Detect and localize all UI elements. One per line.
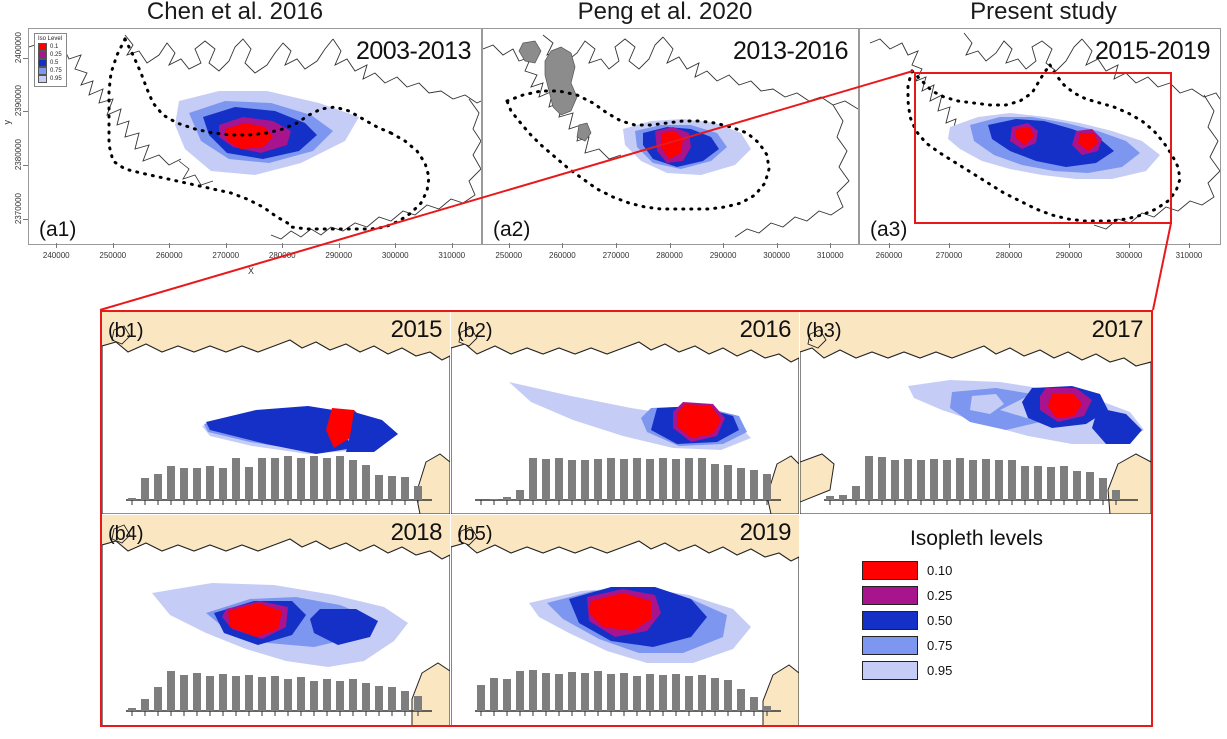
panel-label-b4: (b4)	[108, 523, 144, 546]
panel-label-b1: (b1)	[108, 320, 144, 343]
x-axis-a3: 260000270000280000290000300000310000	[859, 243, 1219, 269]
year-label-b3: 2017	[1092, 316, 1143, 344]
x-axis-tick-mark	[282, 243, 283, 248]
x-axis-tick-mark	[56, 243, 57, 248]
x-axis-tick-mark	[169, 243, 170, 248]
x-axis-tick-mark	[670, 243, 671, 248]
map-panel-b2: 2016 (b2)	[451, 312, 799, 514]
x-axis-tick-label: 310000	[438, 251, 465, 260]
x-axis-tick-mark	[889, 243, 890, 248]
y-axis-tick-mark	[23, 219, 28, 220]
isopleth-swatch-050	[862, 611, 918, 630]
x-axis-tick-mark	[1069, 243, 1070, 248]
x-axis-tick-mark	[1009, 243, 1010, 248]
iso-level-legend-a1: Iso Level 0.1 0.25 0.5 0.75 0.95	[34, 33, 67, 87]
panel-label-a3: (a3)	[870, 218, 907, 242]
year-label-b5: 2019	[740, 519, 791, 547]
x-axis-tick-label: 310000	[817, 251, 844, 260]
iso-swatch-010	[38, 43, 47, 51]
iso-legend-row: 0.1	[38, 43, 62, 51]
iso-swatch-075	[38, 67, 47, 75]
x-axis-tick-label: 300000	[763, 251, 790, 260]
period-label-a1: 2003-2013	[356, 37, 471, 66]
x-axis-tick-label: 240000	[43, 251, 70, 260]
x-axis-tick-mark	[339, 243, 340, 248]
isopleth-legend-row: 0.10	[862, 561, 1151, 580]
iso-level-095: 0.95	[50, 76, 62, 82]
y-axis-tick-label: 2390000	[14, 85, 23, 116]
x-axis-tick-label: 260000	[876, 251, 903, 260]
x-axis-tick-label: 270000	[603, 251, 630, 260]
iso-level-075: 0.75	[50, 68, 62, 74]
y-axis-a1: 2400000239000023800002370000	[0, 28, 28, 243]
y-axis-tick-mark	[23, 111, 28, 112]
iso-level-010: 0.1	[50, 44, 58, 50]
year-label-b4: 2018	[391, 519, 442, 547]
panel-title-peng: Peng et al. 2020	[470, 0, 860, 26]
x-axis-tick-mark	[616, 243, 617, 248]
isopleth-swatch-075	[862, 636, 918, 655]
x-axis-label: X	[248, 266, 254, 276]
map-panel-b1: 2015 (b1)	[102, 312, 450, 514]
panel-title-present: Present study	[860, 0, 1227, 26]
iso-legend-row: 0.5	[38, 59, 62, 67]
x-axis-a2: 2500002600002700002800002900003000003100…	[482, 243, 857, 269]
isopleth-value-095: 0.95	[927, 663, 952, 678]
isopleth-legend-row: 0.50	[862, 611, 1151, 630]
x-axis-tick-mark	[1129, 243, 1130, 248]
x-axis-tick-label: 250000	[495, 251, 522, 260]
isopleth-value-075: 0.75	[927, 638, 952, 653]
x-axis-tick-mark	[723, 243, 724, 248]
zoom-selection-box-a3	[914, 72, 1172, 224]
isopleth-value-010: 0.10	[927, 563, 952, 578]
iso-level-050: 0.5	[50, 60, 58, 66]
x-axis-tick-label: 280000	[269, 251, 296, 260]
iso-swatch-050	[38, 59, 47, 67]
isopleth-swatch-025	[862, 586, 918, 605]
panel-label-a1: (a1)	[39, 218, 76, 242]
x-axis-tick-label: 280000	[996, 251, 1023, 260]
map-panel-a1: Iso Level 0.1 0.25 0.5 0.75 0.95 20	[28, 28, 482, 245]
panel-label-a2: (a2)	[493, 218, 530, 242]
map-panel-b4: 2018 (b4)	[102, 515, 450, 726]
iso-swatch-095	[38, 75, 47, 83]
y-axis-tick-mark	[23, 165, 28, 166]
isopleth-value-025: 0.25	[927, 588, 952, 603]
iso-legend-row: 0.25	[38, 51, 62, 59]
x-axis-tick-label: 290000	[325, 251, 352, 260]
isopleth-swatch-095	[862, 661, 918, 680]
y-axis-label: y	[2, 120, 12, 125]
map-panel-b5: 2019 (b5)	[451, 515, 799, 726]
x-axis-tick-mark	[562, 243, 563, 248]
x-axis-tick-label: 300000	[1116, 251, 1143, 260]
x-axis-tick-mark	[777, 243, 778, 248]
y-axis-tick-label: 2370000	[14, 193, 23, 224]
iso-legend-row: 0.75	[38, 67, 62, 75]
iso-legend-title: Iso Level	[38, 36, 62, 42]
period-label-a2: 2013-2016	[733, 37, 848, 66]
x-axis-tick-mark	[1189, 243, 1190, 248]
y-axis-tick-label: 2380000	[14, 139, 23, 170]
x-axis-tick-mark	[949, 243, 950, 248]
x-axis-tick-label: 290000	[710, 251, 737, 260]
panel-label-b5: (b5)	[457, 523, 493, 546]
isopleth-legend-title: Isopleth levels	[802, 527, 1151, 551]
x-axis-tick-label: 270000	[936, 251, 963, 260]
isopleth-levels-legend: Isopleth levels 0.10 0.25 0.50 0.75 0.95	[802, 527, 1151, 726]
zoomed-panel-container: 2015 (b1)	[100, 310, 1153, 727]
x-axis-tick-label: 250000	[99, 251, 126, 260]
x-axis-tick-label: 300000	[382, 251, 409, 260]
x-axis-tick-mark	[830, 243, 831, 248]
isopleth-swatch-010	[862, 561, 918, 580]
y-axis-tick-label: 2400000	[14, 32, 23, 63]
year-label-b1: 2015	[391, 316, 442, 344]
isopleth-legend-row: 0.95	[862, 661, 1151, 680]
map-panel-b3: 2017 (b3)	[800, 312, 1151, 514]
iso-level-025: 0.25	[50, 52, 62, 58]
iso-legend-row: 0.95	[38, 75, 62, 83]
y-axis-tick-mark	[23, 58, 28, 59]
x-axis-tick-mark	[226, 243, 227, 248]
panel-title-chen: Chen et al. 2016	[0, 0, 470, 26]
panel-label-b2: (b2)	[457, 320, 493, 343]
period-label-a3: 2015-2019	[1095, 37, 1210, 66]
x-axis-tick-mark	[395, 243, 396, 248]
x-axis-tick-label: 270000	[212, 251, 239, 260]
x-axis-tick-label: 260000	[549, 251, 576, 260]
figure-root: Chen et al. 2016 Peng et al. 2020 Presen…	[0, 0, 1227, 739]
x-axis-tick-label: 260000	[156, 251, 183, 260]
x-axis-tick-mark	[452, 243, 453, 248]
map-panel-a2: 2013-2016 (a2)	[482, 28, 859, 245]
isopleth-value-050: 0.50	[927, 613, 952, 628]
x-axis-tick-label: 280000	[656, 251, 683, 260]
iso-swatch-025	[38, 51, 47, 59]
map-panel-a3: 2015-2019 (a3)	[859, 28, 1221, 245]
x-axis-tick-mark	[509, 243, 510, 248]
isopleth-legend-row: 0.25	[862, 586, 1151, 605]
year-label-b2: 2016	[740, 316, 791, 344]
panel-label-b3: (b3)	[806, 320, 842, 343]
x-axis-tick-label: 310000	[1176, 251, 1203, 260]
x-axis-tick-mark	[113, 243, 114, 248]
isopleth-legend-row: 0.75	[862, 636, 1151, 655]
x-axis-tick-label: 290000	[1056, 251, 1083, 260]
